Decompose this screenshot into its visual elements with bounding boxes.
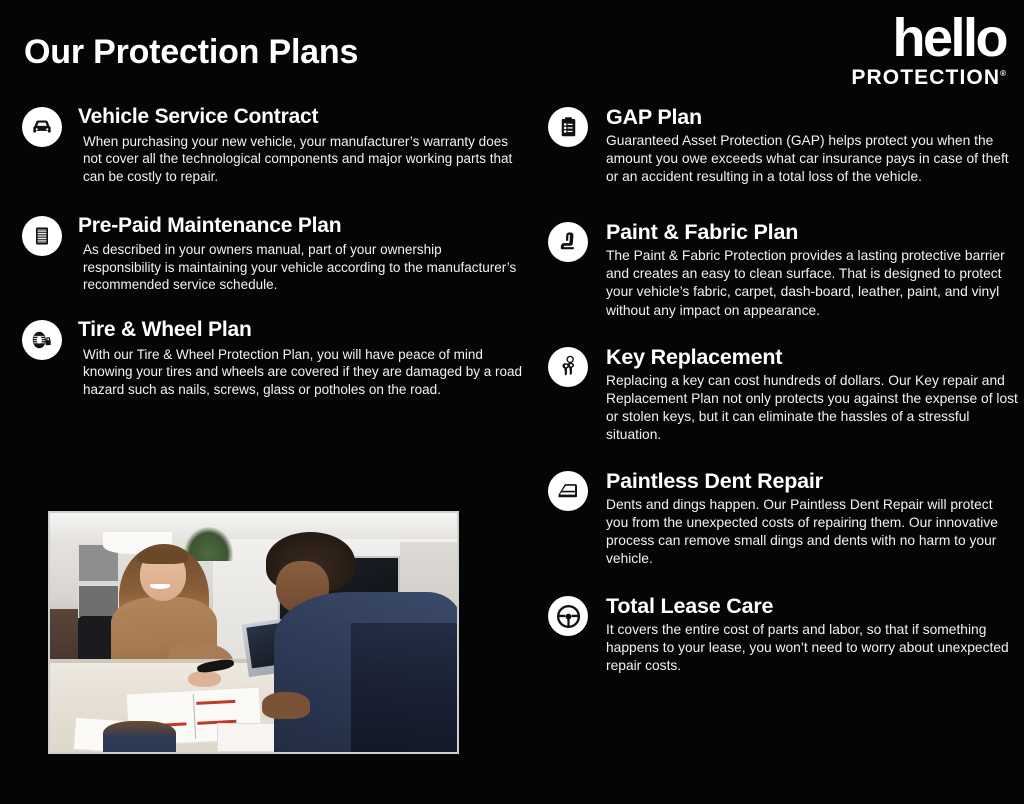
photo-foreground-arm — [103, 721, 176, 752]
photo-scene — [50, 513, 457, 752]
plan-vehicle-service-contract: Vehicle Service Contract When purchasing… — [22, 105, 522, 186]
plan-description: Guaranteed Asset Protection (GAP) helps … — [606, 132, 1018, 186]
logo-wordmark-hello: hello — [851, 14, 1006, 64]
brand-logo: hello PROTECTION® — [851, 14, 1006, 89]
plan-pre-paid-maintenance: Pre-Paid Maintenance Plan As described i… — [22, 214, 522, 295]
plan-key-replacement: Key Replacement Replacing a key can cost… — [548, 345, 1018, 444]
tire-lock-icon — [22, 320, 62, 360]
plan-paintless-dent-repair: Paintless Dent Repair Dents and dings ha… — [548, 469, 1018, 568]
plan-description: It covers the entire cost of parts and l… — [606, 621, 1018, 675]
plan-title: Vehicle Service Contract — [78, 105, 522, 129]
car-icon — [22, 107, 62, 147]
photo-man-jacket-shadow — [351, 623, 457, 752]
registered-trademark-icon: ® — [1000, 69, 1006, 78]
plan-title: Paintless Dent Repair — [606, 469, 1018, 493]
dealership-photo — [48, 511, 459, 754]
plans-column-left: Vehicle Service Contract When purchasing… — [22, 105, 522, 409]
plan-gap: GAP Plan Guaranteed Asset Protection (GA… — [548, 105, 1018, 186]
plan-total-lease-care: Total Lease Care It covers the entire co… — [548, 594, 1018, 675]
plan-title: Paint & Fabric Plan — [606, 220, 1018, 244]
logo-protection-text: PROTECTION — [851, 66, 1000, 89]
keys-icon — [548, 347, 588, 387]
plan-description: When purchasing your new vehicle, your m… — [78, 133, 522, 186]
photo-man-hand — [262, 692, 311, 718]
plan-title: Key Replacement — [606, 345, 1018, 369]
plan-title: GAP Plan — [606, 105, 1018, 129]
clipboard-checklist-icon — [548, 107, 588, 147]
plan-description: Replacing a key can cost hundreds of dol… — [606, 372, 1018, 444]
photo-woman-hand — [188, 671, 221, 688]
plans-column-right: GAP Plan Guaranteed Asset Protection (GA… — [548, 105, 1018, 686]
photo-woman-fringe — [137, 548, 188, 565]
car-door-icon — [548, 471, 588, 511]
manual-document-icon — [22, 216, 62, 256]
plan-title: Pre-Paid Maintenance Plan — [78, 214, 522, 238]
plan-description: Dents and dings happen. Our Paintless De… — [606, 496, 1018, 568]
plan-description: As described in your owners manual, part… — [78, 241, 522, 294]
plan-description: The Paint & Fabric Protection provides a… — [606, 247, 1018, 319]
page-title: Our Protection Plans — [24, 33, 358, 72]
steering-wheel-icon — [548, 596, 588, 636]
plan-description: With our Tire & Wheel Protection Plan, y… — [78, 346, 522, 399]
plan-title: Total Lease Care — [606, 594, 1018, 618]
plan-title: Tire & Wheel Plan — [78, 318, 522, 342]
logo-wordmark-protection: PROTECTION® — [851, 67, 1006, 88]
car-seat-icon — [548, 222, 588, 262]
plan-tire-and-wheel: Tire & Wheel Plan With our Tire & Wheel … — [22, 318, 522, 399]
plan-paint-and-fabric: Paint & Fabric Plan The Paint & Fabric P… — [548, 220, 1018, 319]
